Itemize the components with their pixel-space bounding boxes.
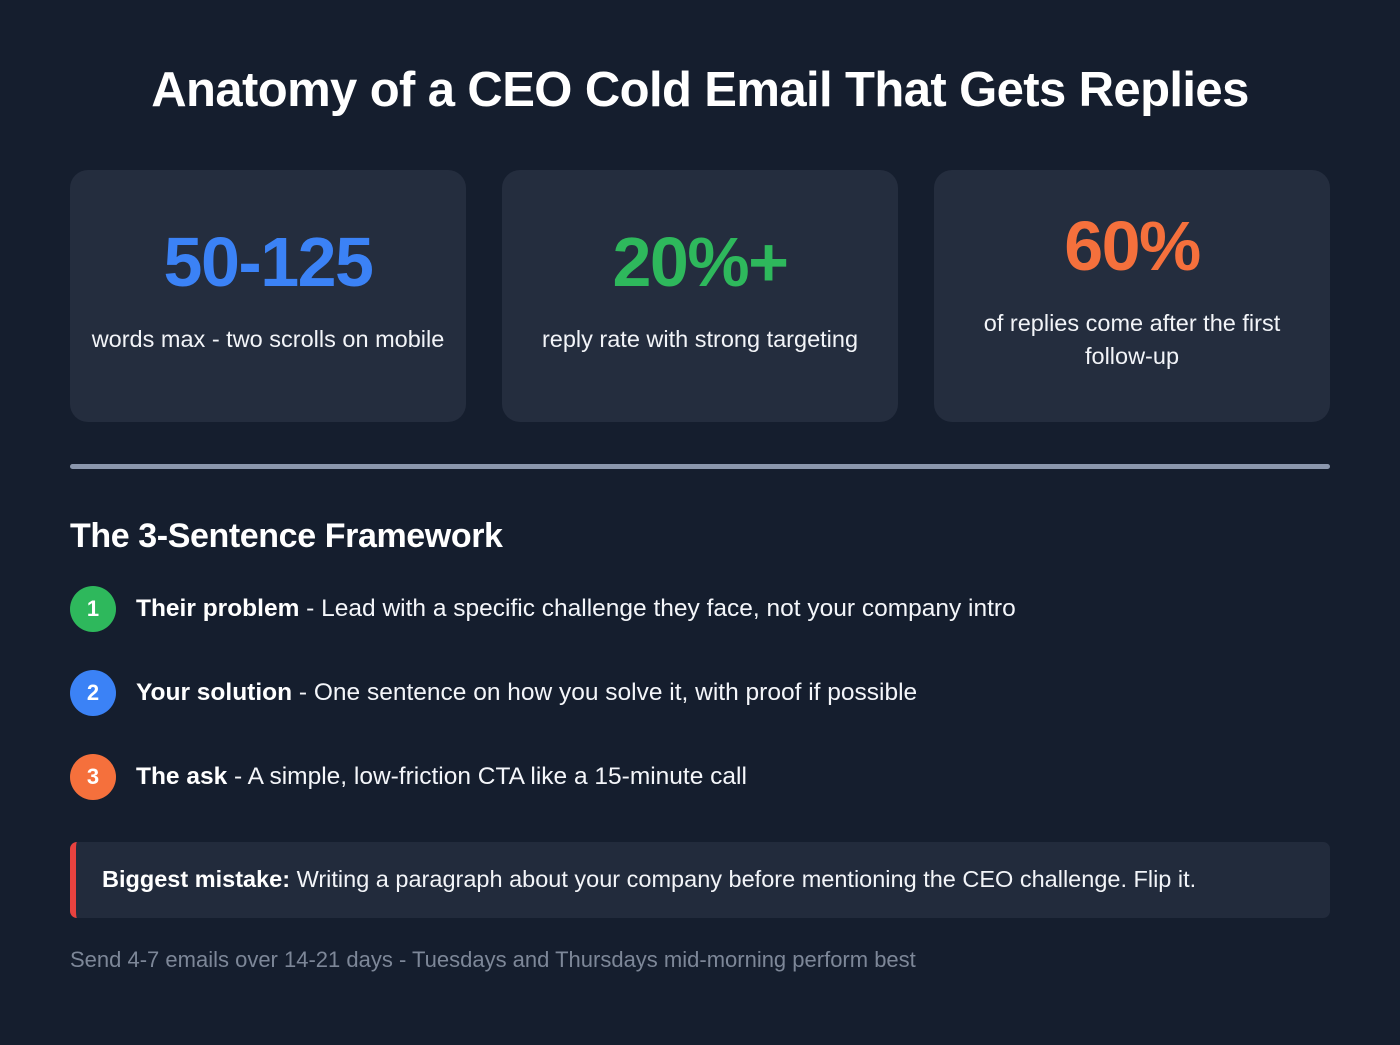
step-number-badge-2: 2 <box>70 670 116 716</box>
framework-step: 1 Their problem - Lead with a specific c… <box>70 586 1330 632</box>
infographic-page: Anatomy of a CEO Cold Email That Gets Re… <box>0 0 1400 1045</box>
framework-heading: The 3-Sentence Framework <box>70 517 1330 556</box>
step-text-2: Your solution - One sentence on how you … <box>136 677 917 709</box>
stat-value-reply-rate: 20%+ <box>613 227 788 297</box>
step-detail-3: - A simple, low-friction CTA like a 15-m… <box>227 763 747 790</box>
stat-card-reply-rate: 20%+ reply rate with strong targeting <box>502 170 898 422</box>
step-text-3: The ask - A simple, low-friction CTA lik… <box>136 761 747 793</box>
framework-steps: 1 Their problem - Lead with a specific c… <box>70 586 1330 800</box>
stat-card-followup: 60% of replies come after the first foll… <box>934 170 1330 422</box>
step-label-3: The ask <box>136 763 227 790</box>
step-text-1: Their problem - Lead with a specific cha… <box>136 593 1016 625</box>
stat-label-reply-rate: reply rate with strong targeting <box>542 323 858 356</box>
biggest-mistake-callout: Biggest mistake: Writing a paragraph abo… <box>70 842 1330 918</box>
step-label-2: Your solution <box>136 679 292 706</box>
step-number-badge-3: 3 <box>70 754 116 800</box>
stat-value-followup: 60% <box>1064 211 1200 281</box>
callout-label: Biggest mistake: <box>102 866 290 892</box>
footer-note: Send 4-7 emails over 14-21 days - Tuesda… <box>70 946 1330 975</box>
stat-value-words: 50-125 <box>164 227 373 297</box>
stats-row: 50-125 words max - two scrolls on mobile… <box>70 170 1330 422</box>
stat-label-words: words max - two scrolls on mobile <box>92 323 445 356</box>
stat-card-words: 50-125 words max - two scrolls on mobile <box>70 170 466 422</box>
step-detail-2: - One sentence on how you solve it, with… <box>292 679 917 706</box>
stat-label-followup: of replies come after the first follow-u… <box>952 307 1312 374</box>
framework-step: 3 The ask - A simple, low-friction CTA l… <box>70 754 1330 800</box>
framework-step: 2 Your solution - One sentence on how yo… <box>70 670 1330 716</box>
step-detail-1: - Lead with a specific challenge they fa… <box>299 595 1015 622</box>
page-title: Anatomy of a CEO Cold Email That Gets Re… <box>70 64 1330 118</box>
callout-text: Biggest mistake: Writing a paragraph abo… <box>102 863 1306 896</box>
step-label-1: Their problem <box>136 595 299 622</box>
callout-detail: Writing a paragraph about your company b… <box>290 866 1196 892</box>
section-divider <box>70 464 1330 469</box>
step-number-badge-1: 1 <box>70 586 116 632</box>
